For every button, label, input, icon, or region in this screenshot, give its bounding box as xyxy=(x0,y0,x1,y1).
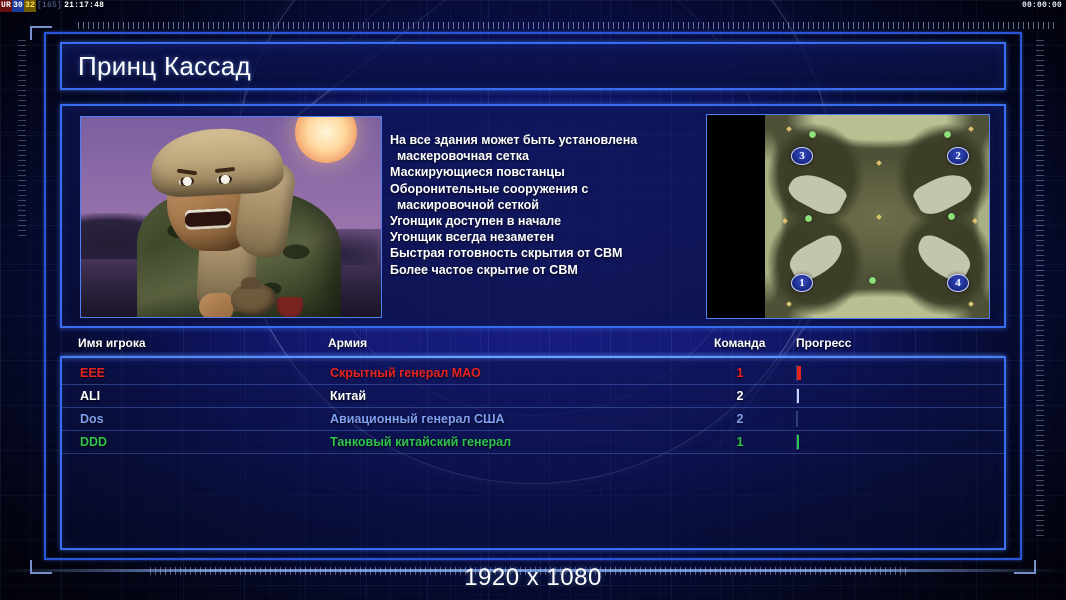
table-row[interactable]: ALI Китай 2 xyxy=(62,385,1004,408)
player-team: 2 xyxy=(730,412,750,426)
progress-bar xyxy=(796,365,798,381)
status-bracket: [165] xyxy=(36,0,63,12)
minimap-start-position-3[interactable]: 3 xyxy=(791,147,813,165)
description-line: маскировочной сеткой xyxy=(390,197,700,213)
progress-bar xyxy=(796,411,798,427)
table-row[interactable]: Dos Авиационный генерал США 2 xyxy=(62,408,1004,431)
game-lobby-screen: UR3032[165]21:17:48 00:00:00 Принц Касса… xyxy=(0,0,1066,600)
minimap-start-position-1[interactable]: 1 xyxy=(791,274,813,292)
player-army: Авиационный генерал США xyxy=(330,412,505,426)
table-row[interactable]: EEE Скрытный генерал МАО 1 xyxy=(62,362,1004,385)
description-line: На все здания может быть установлена xyxy=(390,132,700,148)
status-timer: 00:00:00 xyxy=(1022,0,1062,12)
player-team: 1 xyxy=(730,366,750,380)
minimap-resource xyxy=(944,131,951,138)
minimap-resource xyxy=(805,215,812,222)
description-line: Оборонительные сооружения с xyxy=(390,181,700,197)
status-bar: UR3032[165]21:17:48 00:00:00 xyxy=(0,0,1066,12)
description-line: маскеровочная сетка xyxy=(390,148,700,164)
progress-bar-indicator xyxy=(797,435,798,449)
player-list-header: Имя игрока Армия Команда Прогресс xyxy=(62,336,1004,358)
player-name: ALI xyxy=(80,389,100,403)
column-header-progress: Прогресс xyxy=(796,336,851,350)
ruler-decoration-top xyxy=(78,22,1058,29)
description-line: Маскирующиеся повстанцы xyxy=(390,164,700,180)
portrait-cup xyxy=(277,297,303,317)
player-name: Dos xyxy=(80,412,104,426)
player-team: 2 xyxy=(730,389,750,403)
player-name: EEE xyxy=(80,366,105,380)
description-line: Угонщик всегда незаметен xyxy=(390,229,700,245)
player-team: 1 xyxy=(730,435,750,449)
status-tag: UR xyxy=(0,0,12,12)
progress-bar-indicator xyxy=(797,389,798,403)
minimap-resource xyxy=(809,131,816,138)
description-line: Угонщик доступен в начале xyxy=(390,213,700,229)
column-header-name: Имя игрока xyxy=(78,336,146,350)
player-progress xyxy=(796,366,798,380)
player-army: Китай xyxy=(330,389,366,403)
minimap-resource xyxy=(869,277,876,284)
description-line: Быстрая готовность скрытия от СВМ xyxy=(390,245,700,261)
status-number-1: 30 xyxy=(12,0,24,12)
portrait-teapot-lid xyxy=(241,277,261,289)
player-progress xyxy=(796,435,798,449)
column-header-army: Армия xyxy=(328,336,367,350)
table-row[interactable]: DDD Танковый китайский генерал 1 xyxy=(62,431,1004,454)
minimap-terrain: 3 2 1 4 xyxy=(765,115,990,319)
player-list-panel: EEE Скрытный генерал МАО 1 ALI Китай 2 xyxy=(60,356,1006,550)
column-header-team: Команда xyxy=(714,336,765,350)
general-description: На все здания может быть установлена мас… xyxy=(390,132,700,278)
resolution-label: 1920 x 1080 xyxy=(0,564,1066,592)
minimap-start-position-2[interactable]: 2 xyxy=(947,147,969,165)
minimap-start-position-4[interactable]: 4 xyxy=(947,274,969,292)
general-portrait xyxy=(80,116,382,318)
general-info-panel: На все здания может быть установлена мас… xyxy=(60,104,1006,328)
title-panel: Принц Кассад xyxy=(60,42,1006,90)
player-progress xyxy=(796,389,798,403)
portrait-hand xyxy=(199,293,233,318)
player-army: Танковый китайский генерал xyxy=(330,435,511,449)
header-divider xyxy=(62,356,1004,358)
player-army: Скрытный генерал МАО xyxy=(330,366,481,380)
minimap-preview[interactable]: 3 2 1 4 xyxy=(706,114,990,319)
progress-bar xyxy=(796,434,798,450)
description-line: Более частое скрытие от СВМ xyxy=(390,262,700,278)
player-progress xyxy=(796,412,798,426)
minimap-resource xyxy=(948,213,955,220)
page-title: Принц Кассад xyxy=(62,51,251,82)
corner-bracket-top-left xyxy=(30,26,52,40)
progress-bar-indicator xyxy=(797,366,798,380)
progress-bar xyxy=(796,388,798,404)
ruler-decoration-left xyxy=(18,40,26,240)
player-name: DDD xyxy=(80,435,107,449)
status-clock: 21:17:48 xyxy=(63,0,105,12)
portrait-mouth xyxy=(185,208,232,230)
ruler-decoration-right xyxy=(1036,40,1044,540)
status-number-2: 32 xyxy=(24,0,36,12)
